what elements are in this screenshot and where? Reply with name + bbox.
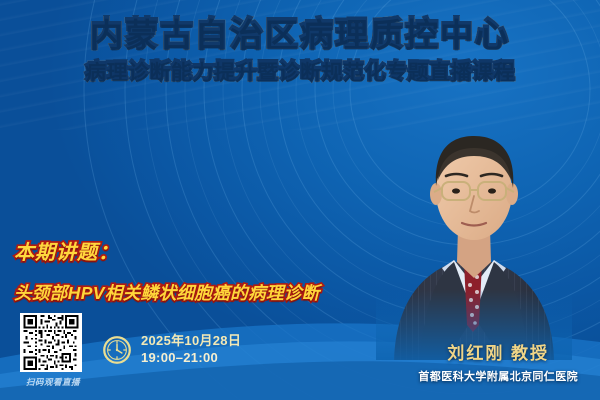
page-subtitle: 病理诊断能力提升暨诊断规范化专题直播课程 bbox=[0, 60, 600, 84]
clock-icon bbox=[102, 335, 132, 365]
live-course-poster: 内蒙古自治区病理质控中心 病理诊断能力提升暨诊断规范化专题直播课程 bbox=[0, 0, 600, 400]
poster-header: 内蒙古自治区病理质控中心 病理诊断能力提升暨诊断规范化专题直播课程 bbox=[0, 16, 600, 84]
topic-label: 本期讲题： bbox=[14, 236, 320, 265]
speaker-info: 刘红刚 教授 首都医科大学附属北京同仁医院 bbox=[418, 339, 578, 384]
speaker-organization: 首都医科大学附属北京同仁医院 bbox=[418, 368, 578, 384]
speaker-portrait bbox=[376, 110, 572, 360]
event-time: 19:00–21:00 bbox=[141, 350, 241, 367]
topic-block: 本期讲题： 头颈部HPV相关鳞状细胞癌的病理诊断 bbox=[14, 236, 320, 305]
schedule-text: 2025年10月28日 19:00–21:00 bbox=[141, 333, 241, 367]
qr-code-icon[interactable] bbox=[20, 313, 82, 372]
qr-caption: 扫码观看直播 bbox=[20, 376, 86, 388]
event-date: 2025年10月28日 bbox=[141, 333, 241, 350]
page-title: 内蒙古自治区病理质控中心 bbox=[0, 16, 600, 53]
topic-title: 头颈部HPV相关鳞状细胞癌的病理诊断 bbox=[14, 280, 320, 305]
speaker-name: 刘红刚 教授 bbox=[418, 339, 578, 364]
qr-block[interactable]: 扫码观看直播 bbox=[20, 313, 86, 388]
schedule-block: 2025年10月28日 19:00–21:00 bbox=[102, 333, 241, 367]
